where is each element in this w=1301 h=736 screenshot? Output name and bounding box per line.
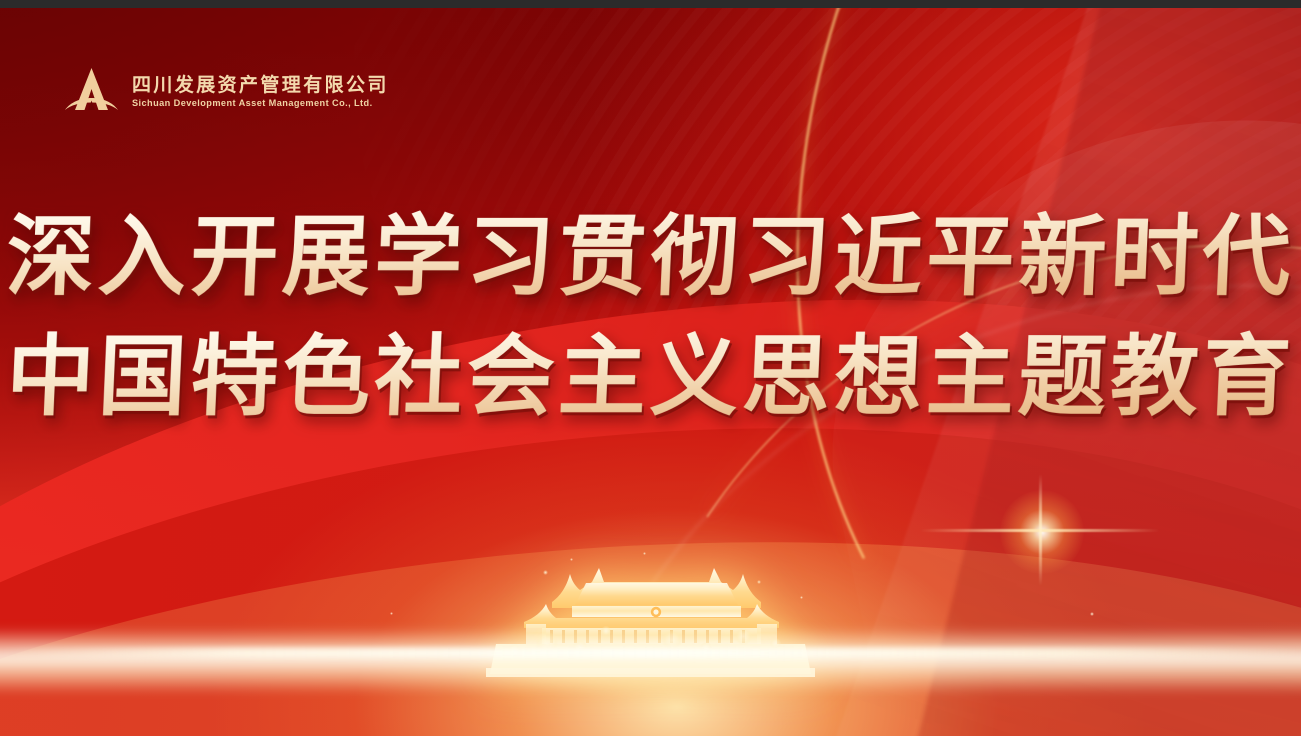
company-logo[interactable]: 四川发展资产管理有限公司 Sichuan Development Asset M…: [64, 66, 389, 118]
sparkle-dot: [390, 612, 393, 615]
headline-line-2: 中国特色社会主义思想主题教育: [0, 316, 1301, 436]
headline-block: 深入开展学习贯彻习近平新时代 中国特色社会主义思想主题教育: [0, 196, 1301, 436]
headline-line-1: 深入开展学习贯彻习近平新时代: [0, 196, 1301, 316]
company-name-en: Sichuan Development Asset Management Co.…: [132, 99, 389, 109]
lens-flare-star-icon: [1040, 530, 1044, 534]
window-top-bar: [0, 0, 1301, 8]
sparkle-dot: [1090, 612, 1094, 616]
horizon-light-core: [0, 648, 1301, 658]
flare-ray-vertical: [1039, 474, 1042, 586]
mountain-a-logo-icon: [64, 66, 119, 118]
poster-canvas: 四川发展资产管理有限公司 Sichuan Development Asset M…: [0, 0, 1301, 736]
horizon-light-band-icon: [0, 628, 1301, 694]
logo-text-block: 四川发展资产管理有限公司 Sichuan Development Asset M…: [132, 76, 389, 109]
flare-core: [1000, 490, 1084, 574]
company-name-cn: 四川发展资产管理有限公司: [132, 76, 389, 96]
